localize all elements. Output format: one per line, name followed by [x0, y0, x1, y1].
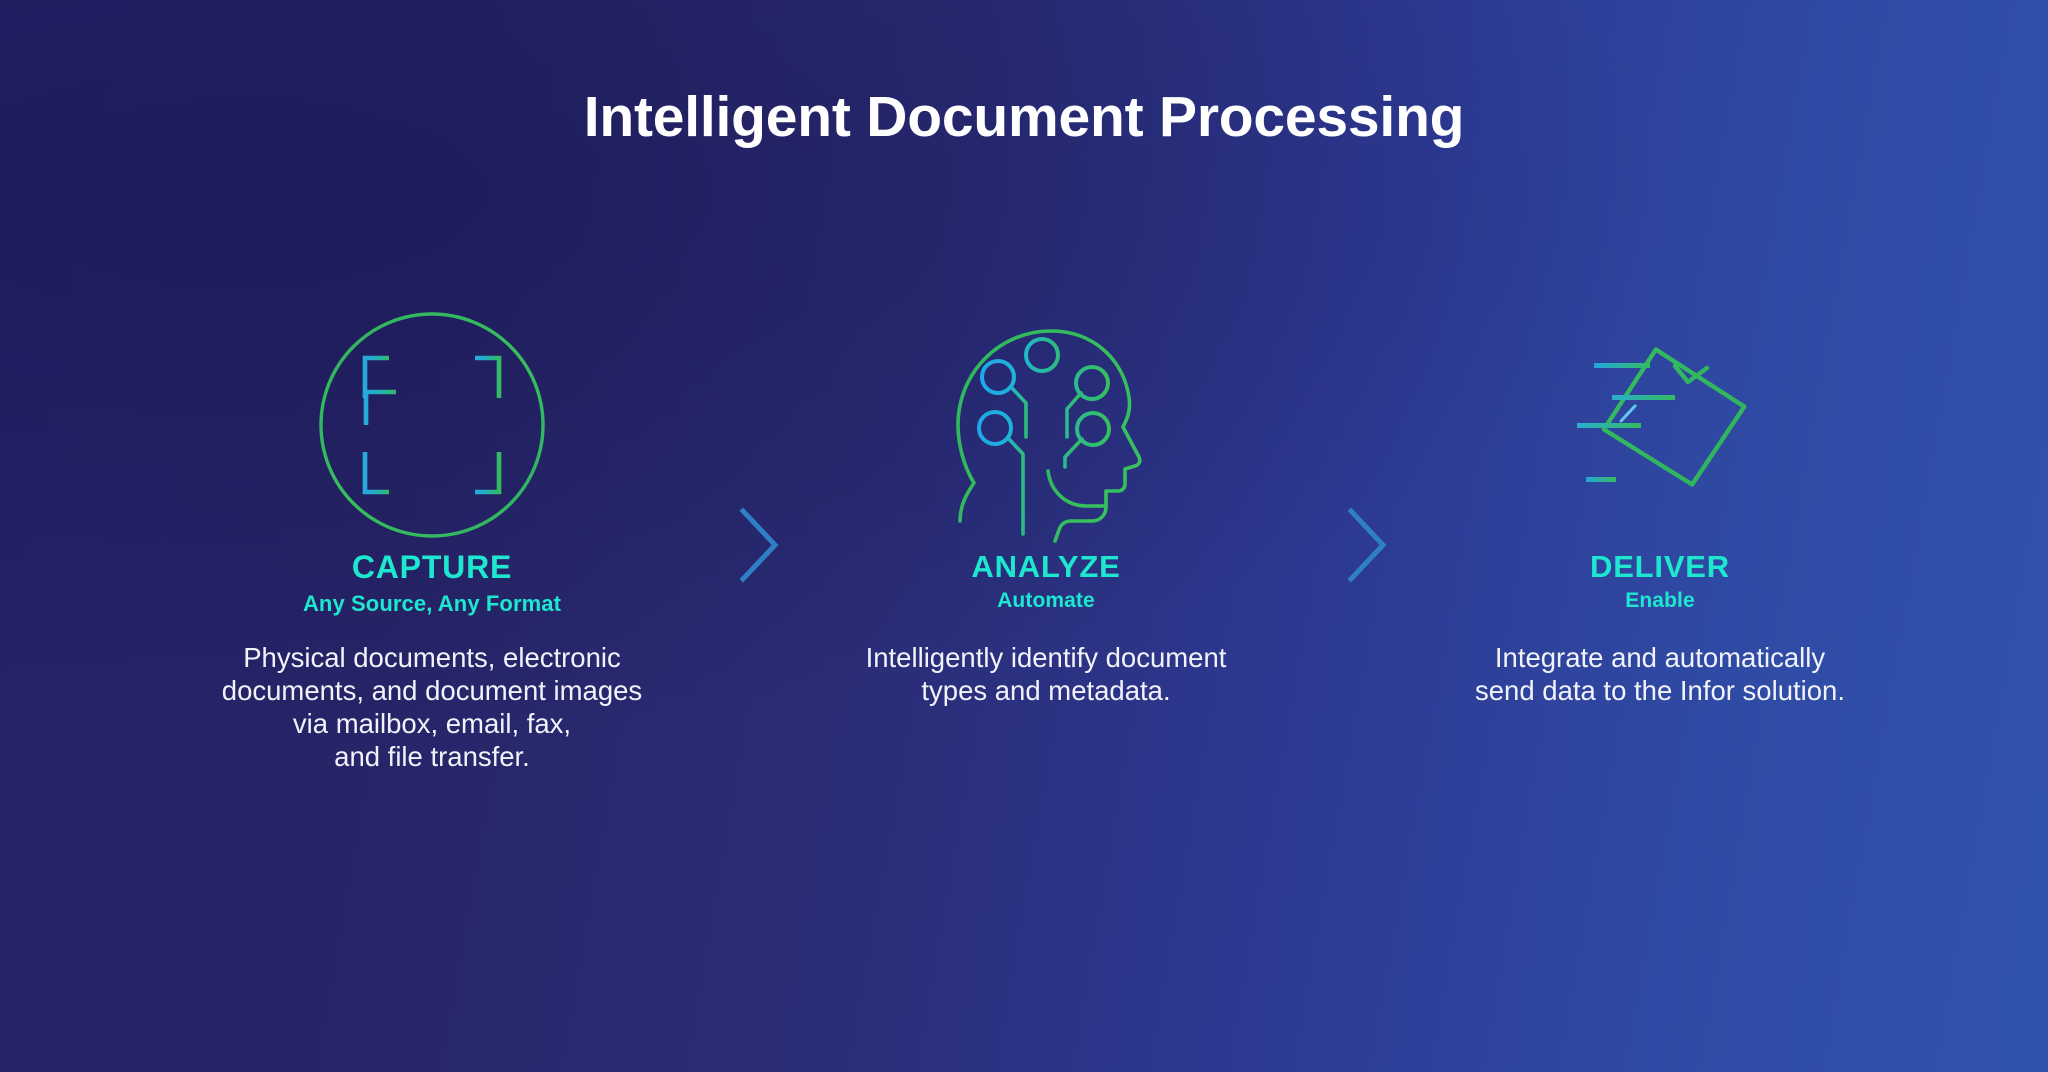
step-deliver: DELIVER Enable Integrate and automatical…: [1380, 300, 1940, 707]
chevron-right-icon-2: [1343, 505, 1393, 585]
step-subheading: Any Source, Any Format: [152, 591, 712, 617]
step-body: Intelligently identify document types an…: [766, 641, 1326, 707]
deliver-icon-wrap: [1380, 300, 1940, 550]
analyze-icon-wrap: [766, 300, 1326, 550]
step-heading: DELIVER: [1380, 550, 1940, 583]
step-subheading: Automate: [766, 589, 1326, 613]
slide-canvas: Intelligent Document Processing: [0, 0, 2048, 1072]
page-title: Intelligent Document Processing: [0, 84, 2048, 150]
chevron-right-icon-1: [735, 505, 785, 585]
step-analyze: ANALYZE Automate Intelligently identify …: [766, 300, 1326, 707]
step-body: Physical documents, electronic documents…: [152, 641, 712, 773]
step-body: Integrate and automatically send data to…: [1380, 641, 1940, 707]
step-heading: ANALYZE: [766, 550, 1326, 583]
step-subheading: Enable: [1380, 589, 1940, 613]
capture-icon-wrap: [152, 300, 712, 550]
step-capture: CAPTURE Any Source, Any Format Physical …: [152, 300, 712, 773]
deliver-envelope-send-icon: [1555, 330, 1765, 520]
analyze-brain-network-icon: [941, 315, 1151, 535]
capture-scan-frame-icon: [314, 307, 550, 543]
step-heading: CAPTURE: [152, 550, 712, 585]
process-steps: CAPTURE Any Source, Any Format Physical …: [0, 300, 2048, 920]
